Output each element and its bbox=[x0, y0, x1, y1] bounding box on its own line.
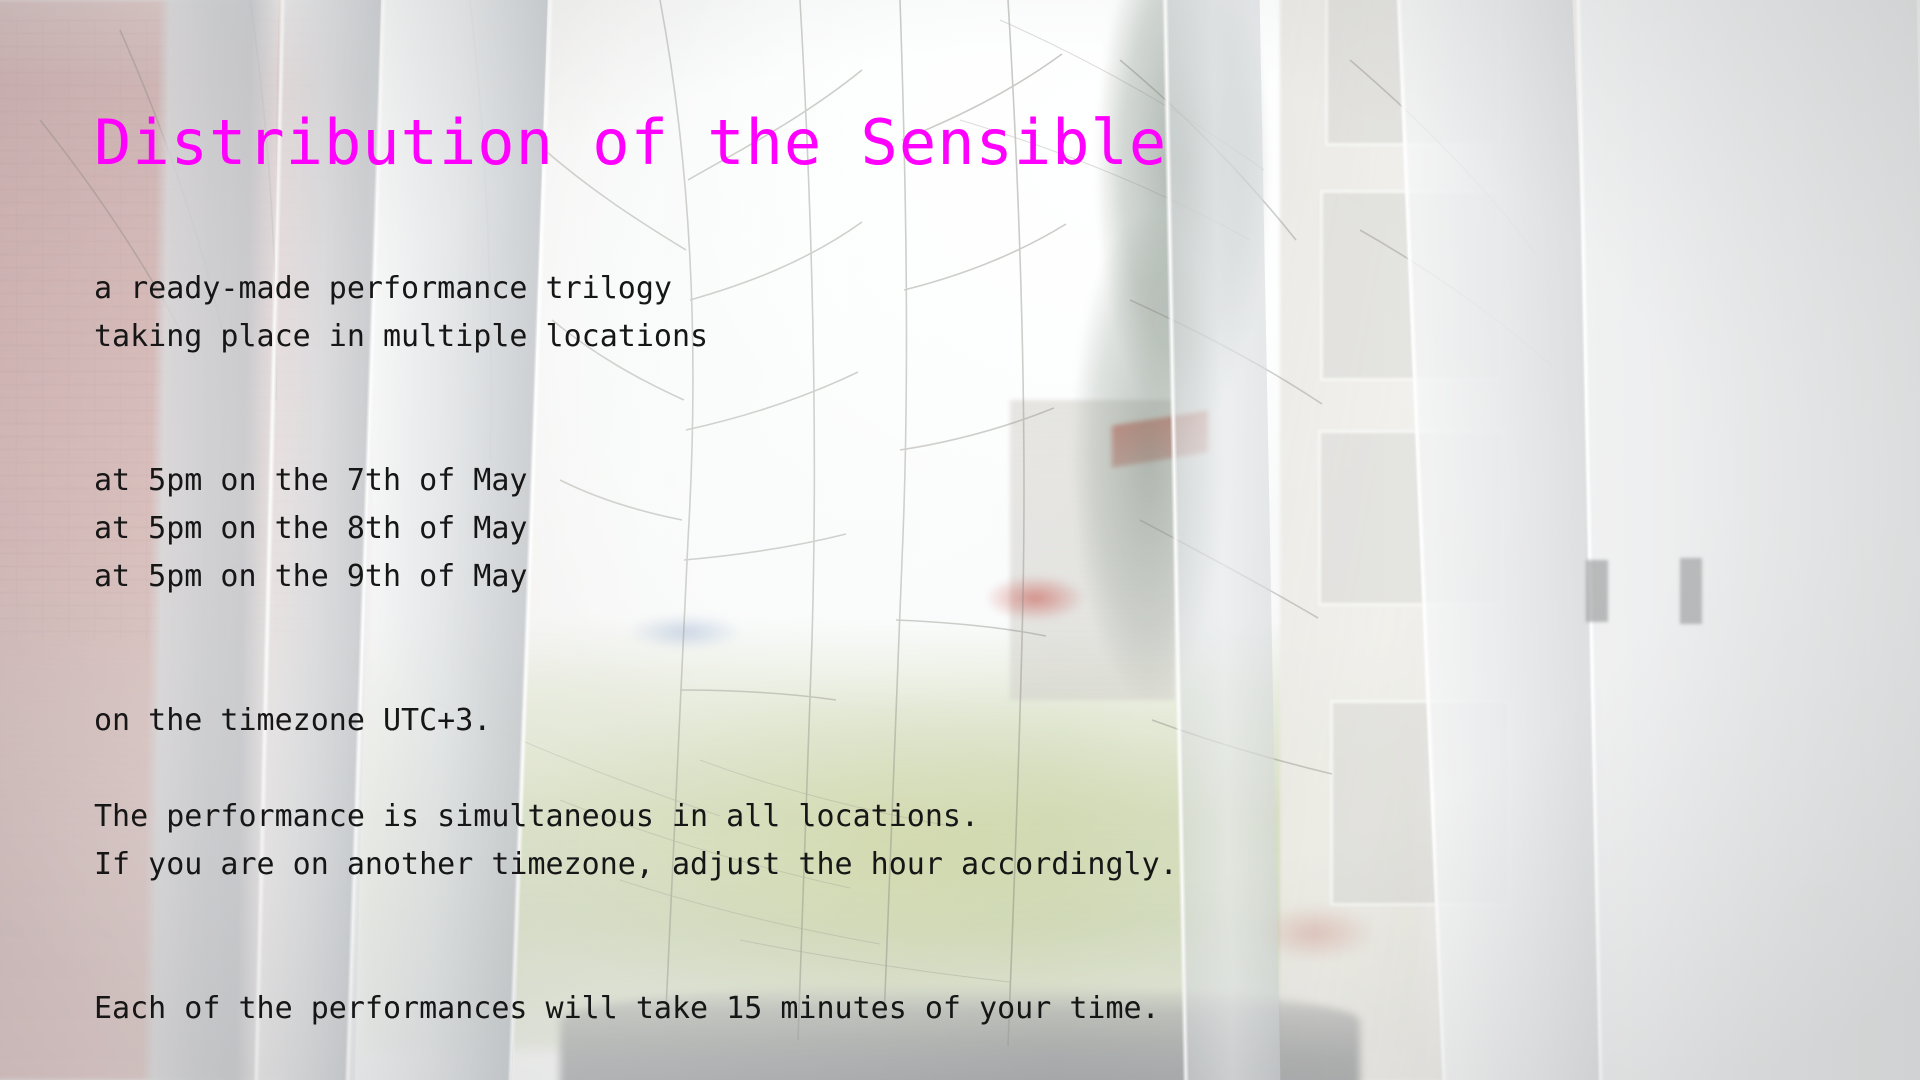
spacer-line bbox=[94, 370, 1854, 418]
body-line: at 5pm on the 7th of May bbox=[94, 466, 1854, 514]
body-line: at 5pm on the 8th of May bbox=[94, 514, 1854, 562]
spacer-line bbox=[94, 946, 1854, 994]
spacer-line bbox=[94, 658, 1854, 706]
spacer-line bbox=[94, 1042, 1854, 1080]
poster-body: a ready-made performance trilogytaking p… bbox=[94, 274, 1854, 1080]
poster-content: Distribution of the Sensible a ready-mad… bbox=[0, 0, 1920, 1080]
poster-stage: Distribution of the Sensible a ready-mad… bbox=[0, 0, 1920, 1080]
body-line: a ready-made performance trilogy bbox=[94, 274, 1854, 322]
spacer-line bbox=[94, 754, 1854, 802]
body-line: at 5pm on the 9th of May bbox=[94, 562, 1854, 610]
body-line: The performance is simultaneous in all l… bbox=[94, 802, 1854, 850]
spacer-line bbox=[94, 610, 1854, 658]
spacer-line bbox=[94, 418, 1854, 466]
body-line: taking place in multiple locations bbox=[94, 322, 1854, 370]
body-line: Each of the performances will take 15 mi… bbox=[94, 994, 1854, 1042]
spacer-line bbox=[94, 898, 1854, 946]
body-line: If you are on another timezone, adjust t… bbox=[94, 850, 1854, 898]
body-line: on the timezone UTC+3. bbox=[94, 706, 1854, 754]
page-title: Distribution of the Sensible bbox=[94, 110, 1167, 175]
